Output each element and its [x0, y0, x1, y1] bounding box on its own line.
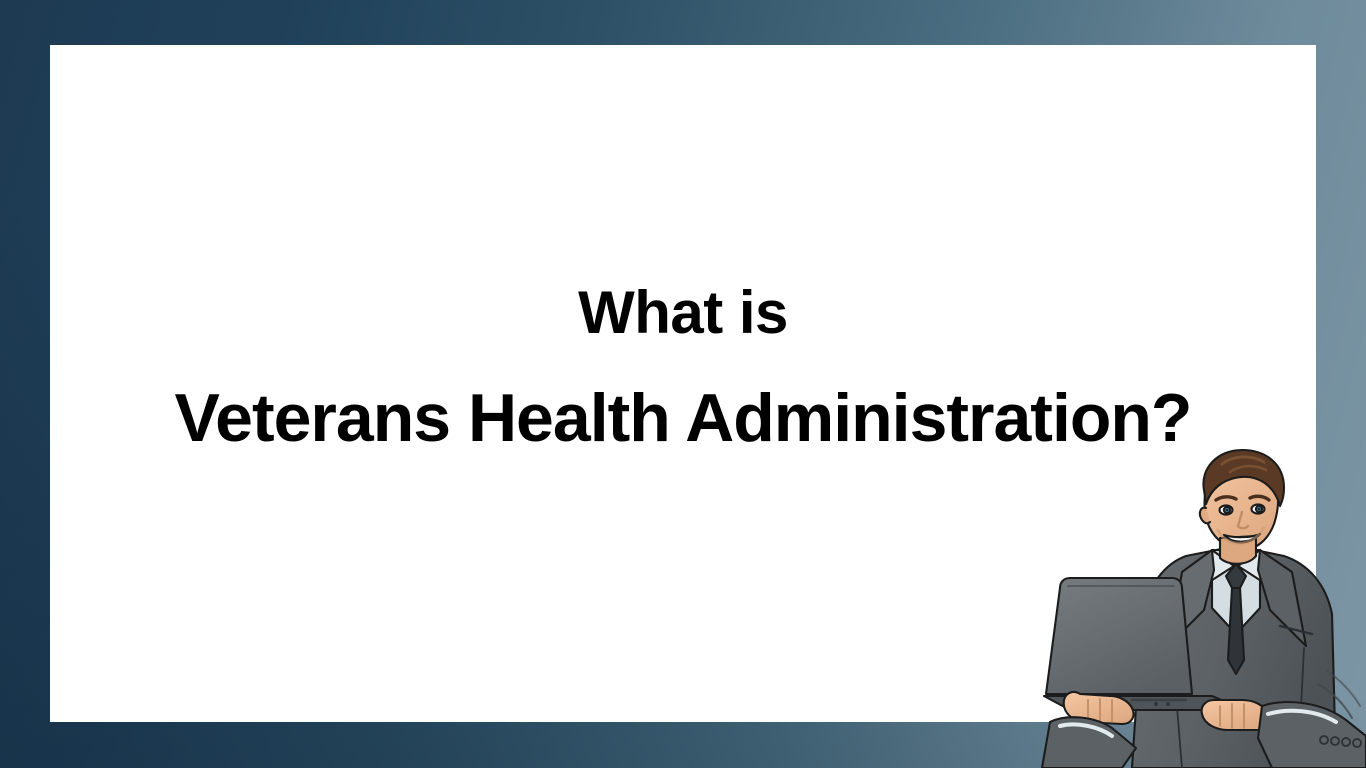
slide-canvas: What is Veterans Health Administration?: [0, 0, 1366, 768]
page-title-line-1: What is: [50, 277, 1316, 349]
businessman-with-laptop-illustration: [1036, 438, 1366, 768]
slide-title-block: What is Veterans Health Administration?: [50, 45, 1316, 459]
